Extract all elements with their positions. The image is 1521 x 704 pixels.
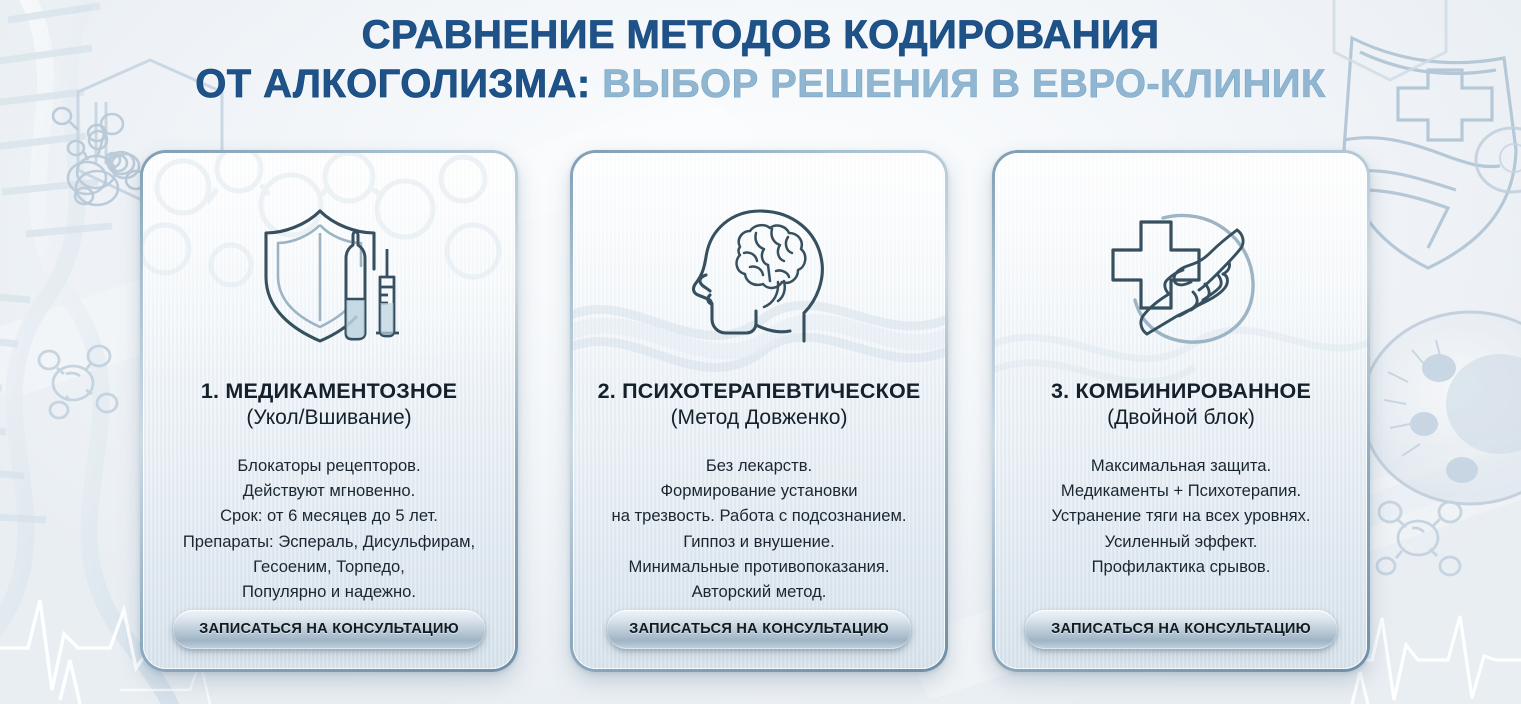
card-body-line: Минимальные противопоказания. (579, 554, 939, 579)
card-icon-wrapper (573, 199, 945, 349)
card-heading: 3. КОМБИНИРОВАННОЕ (Двойной блок) (1005, 379, 1357, 430)
cross-helping-hands-icon (1105, 204, 1257, 344)
card-body: Без лекарств. Формирование установки на … (579, 453, 939, 604)
card-title: 2. ПСИХОТЕРАПЕВТИЧЕСКОЕ (583, 379, 935, 404)
card-icon-wrapper (143, 199, 515, 349)
card-subtitle: (Двойной блок) (1005, 406, 1357, 430)
shield-ampoule-syringe-icon (254, 203, 404, 345)
card-body-line: Срок: от 6 месяцев до 5 лет. (149, 503, 509, 528)
title-line-1: СРАВНЕНИЕ МЕТОДОВ КОДИРОВАНИЯ (0, 14, 1521, 57)
card-body-line: Устранение тяги на всех уровнях. (1001, 503, 1361, 528)
book-consultation-button[interactable]: ЗАПИСАТЬСЯ НА КОНСУЛЬТАЦИЮ (607, 610, 911, 649)
card-body: Блокаторы рецепторов. Действуют мгновенн… (149, 453, 509, 604)
card-cta-row: ЗАПИСАТЬСЯ НА КОНСУЛЬТАЦИЮ (143, 610, 515, 649)
book-consultation-button[interactable]: ЗАПИСАТЬСЯ НА КОНСУЛЬТАЦИЮ (1025, 610, 1337, 649)
card-body-line: Усиленный эффект. (1001, 529, 1361, 554)
card-body-line: Популярно и надежно. (149, 579, 509, 604)
card-body-line: Действуют мгновенно. (149, 478, 509, 503)
infographic-banner: СРАВНЕНИЕ МЕТОДОВ КОДИРОВАНИЯ ОТ АЛКОГОЛ… (0, 0, 1521, 704)
method-card-combined: 3. КОМБИНИРОВАННОЕ (Двойной блок) Максим… (992, 150, 1370, 672)
method-card-medication: 1. МЕДИКАМЕНТОЗНОЕ (Укол/Вшивание) Блока… (140, 150, 518, 672)
title-line-2-light: ВЫБОР РЕШЕНИЯ В ЕВРО-КЛИНИК (602, 62, 1326, 106)
card-subtitle: (Укол/Вшивание) (153, 406, 505, 430)
page-title: СРАВНЕНИЕ МЕТОДОВ КОДИРОВАНИЯ ОТ АЛКОГОЛ… (0, 14, 1521, 106)
card-body-line: Без лекарств. (579, 453, 939, 478)
card-heading: 2. ПСИХОТЕРАПЕВТИЧЕСКОЕ (Метод Довженко) (583, 379, 935, 430)
card-body-line: Профилактика срывов. (1001, 554, 1361, 579)
title-line-2-dark: ОТ АЛКОГОЛИЗМА: (195, 62, 590, 106)
card-body-line: Медикаменты + Психотерапия. (1001, 478, 1361, 503)
card-body-line: Гиппоз и внушение. (579, 529, 939, 554)
card-icon-wrapper (995, 199, 1367, 349)
card-body-line: Препараты: Эспераль, Дисульфирам, (149, 529, 509, 554)
card-subtitle: (Метод Довженко) (583, 406, 935, 430)
head-brain-icon (684, 203, 834, 345)
card-heading: 1. МЕДИКАМЕНТОЗНОЕ (Укол/Вшивание) (153, 379, 505, 430)
card-title: 3. КОМБИНИРОВАННОЕ (1005, 379, 1357, 404)
card-body-line: Формирование установки (579, 478, 939, 503)
card-cta-row: ЗАПИСАТЬСЯ НА КОНСУЛЬТАЦИЮ (995, 610, 1367, 649)
card-body-line: Блокаторы рецепторов. (149, 453, 509, 478)
card-cta-row: ЗАПИСАТЬСЯ НА КОНСУЛЬТАЦИЮ (573, 610, 945, 649)
book-consultation-button[interactable]: ЗАПИСАТЬСЯ НА КОНСУЛЬТАЦИЮ (173, 610, 485, 649)
card-body: Максимальная защита. Медикаменты + Психо… (1001, 453, 1361, 579)
title-line-2: ОТ АЛКОГОЛИЗМА: ВЫБОР РЕШЕНИЯ В ЕВРО-КЛИ… (0, 63, 1521, 106)
card-title: 1. МЕДИКАМЕНТОЗНОЕ (153, 379, 505, 404)
card-body-line: Гесоеним, Торпедо, (149, 554, 509, 579)
card-body-line: Максимальная защита. (1001, 453, 1361, 478)
card-body-line: Авторский метод. (579, 579, 939, 604)
card-body-line: на трезвость. Работа с подсознанием. (579, 503, 939, 528)
method-card-psychotherapy: 2. ПСИХОТЕРАПЕВТИЧЕСКОЕ (Метод Довженко)… (570, 150, 948, 672)
